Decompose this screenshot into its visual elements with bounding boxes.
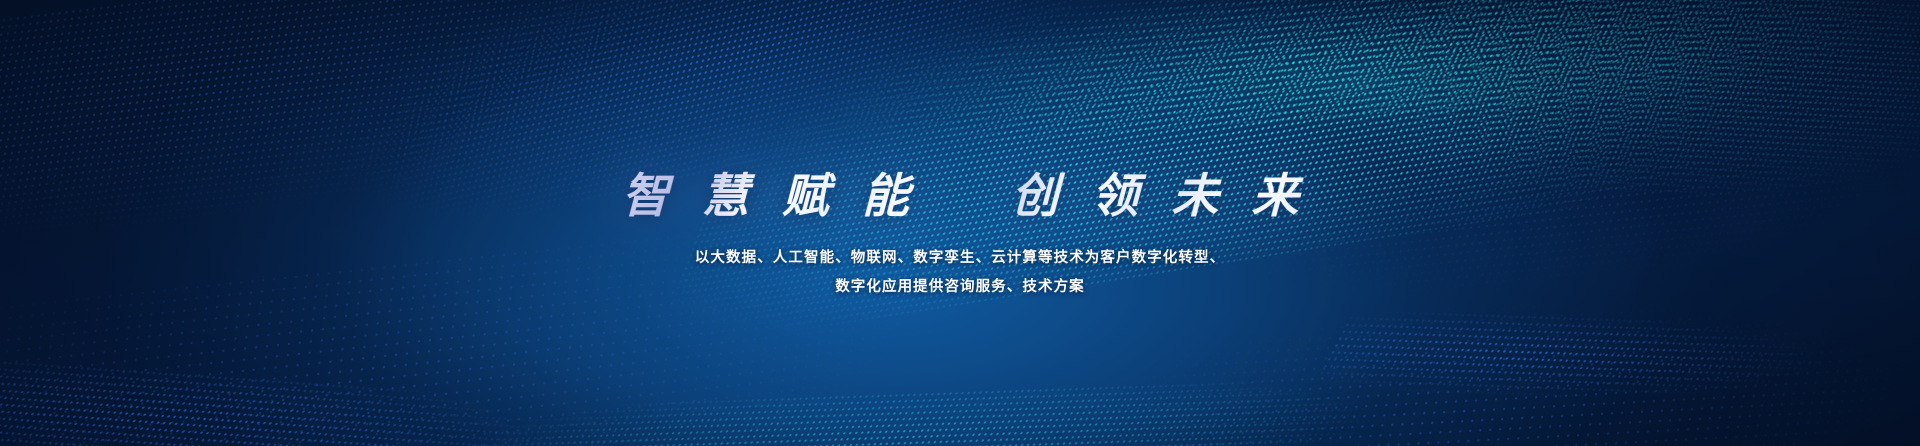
banner-subtitle-line-1: 以大数据、人工智能、物联网、数字孪生、云计算等技术为客户数字化转型、	[695, 244, 1225, 274]
banner-subtitle-line-2: 数字化应用提供咨询服务、技术方案	[695, 273, 1225, 303]
banner-subtitle: 以大数据、人工智能、物联网、数字孪生、云计算等技术为客户数字化转型、 数字化应用…	[695, 244, 1225, 303]
hero-banner: 智 慧 赋 能 创 领 未 来 以大数据、人工智能、物联网、数字孪生、云计算等技…	[0, 0, 1920, 446]
banner-headline: 智 慧 赋 能 创 领 未 来	[621, 171, 1308, 222]
banner-content: 智 慧 赋 能 创 领 未 来 以大数据、人工智能、物联网、数字孪生、云计算等技…	[0, 0, 1920, 446]
